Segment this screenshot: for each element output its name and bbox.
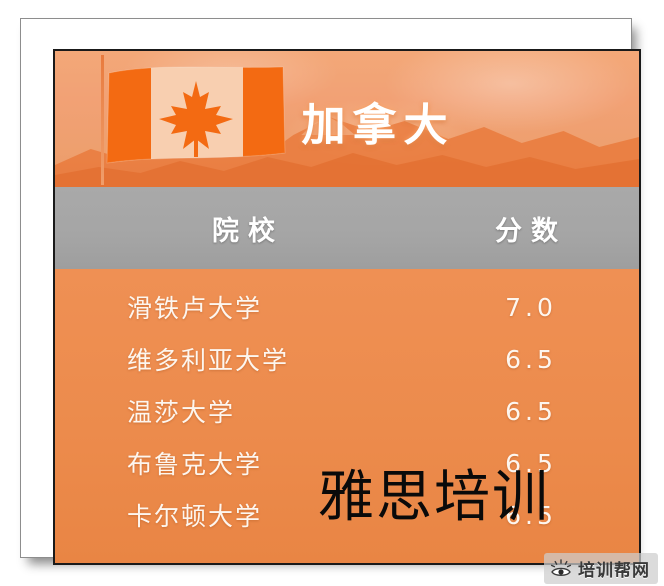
eye-sun-logo-icon: [550, 559, 572, 579]
table-row: 维多利亚大学 6.5: [55, 333, 639, 385]
cell-score: 6.5: [423, 397, 639, 426]
poster-root: 加拿大 院校 分数 滑铁卢大学 7.0 维多利亚大学 6.5 温莎大学: [0, 0, 664, 586]
table-header: 院校 分数: [55, 187, 639, 269]
column-header-school: 院校: [55, 209, 423, 248]
cell-school: 温莎大学: [55, 393, 423, 429]
banner: 加拿大: [55, 51, 639, 187]
cell-score: 6.5: [423, 345, 639, 374]
page-title: 加拿大: [55, 89, 639, 153]
watermark-label: 培训帮网: [578, 556, 650, 581]
watermark: 培训帮网: [544, 553, 658, 584]
overlay-title: 雅思培训: [318, 452, 550, 533]
column-header-score: 分数: [423, 209, 639, 248]
table-row: 温莎大学 6.5: [55, 385, 639, 437]
cell-school: 滑铁卢大学: [55, 289, 423, 325]
cell-score: 7.0: [423, 293, 639, 322]
cell-school: 维多利亚大学: [55, 341, 423, 377]
table-row: 滑铁卢大学 7.0: [55, 281, 639, 333]
